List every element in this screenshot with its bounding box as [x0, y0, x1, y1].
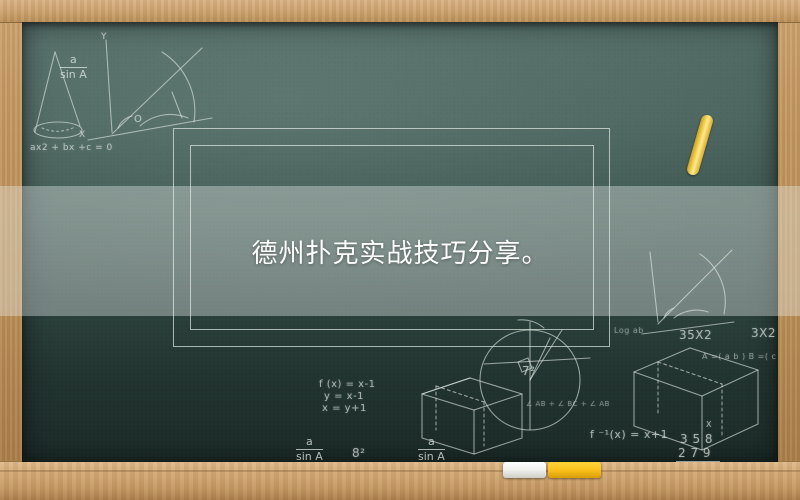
- addition-addend-1: 3 5 8: [680, 432, 713, 446]
- matrix-expression: A =( a b ) B =( c d ) C =( e f ): [702, 352, 778, 361]
- frame-top-rail: [0, 0, 800, 23]
- matrix-dimension-35x2: 35X2: [679, 328, 712, 342]
- formula-fx: f (x) = x-1: [319, 379, 376, 390]
- white-chalk-on-ledge[interactable]: [503, 462, 546, 478]
- formula-angle-sum: ∠ AB + ∠ BC + ∠ AB: [526, 400, 610, 408]
- formula-quadratic: ax2 + bx +c = 0: [30, 143, 113, 153]
- addition-label-x: X: [706, 420, 712, 429]
- headline-text: 德州扑克实战技巧分享。: [0, 186, 800, 316]
- yellow-chalk-on-ledge[interactable]: [548, 462, 601, 478]
- formula-a-over-sin-a-2: a sin A: [296, 436, 323, 462]
- formula-f-inverse: f ⁻¹(x) = x+1: [590, 428, 668, 441]
- matrix-dimension-3x2: 3X2: [751, 326, 776, 340]
- formula-x: x = y+1: [322, 403, 367, 414]
- addition-addend-2: 2 7 9: [678, 446, 711, 460]
- banner-canvas: a sin A ax2 + bx +c = 0 Y X O f (x) = x-…: [0, 0, 800, 500]
- formula-a-over-sin-a-3: a sin A: [418, 436, 445, 462]
- angle-label-o: O: [134, 114, 142, 125]
- formula-8-squared: 8²: [352, 446, 365, 460]
- formula-a-over-sin-a: a sin A: [60, 54, 87, 80]
- axis-label-x: X: [79, 130, 86, 140]
- formula-log-ab: Log ab: [614, 326, 644, 335]
- frame-bottom-ledge: [0, 461, 800, 500]
- formula-y: y = x-1: [324, 391, 364, 402]
- axis-label-y: Y: [101, 32, 107, 42]
- formula-7-squared: 7²: [522, 364, 535, 378]
